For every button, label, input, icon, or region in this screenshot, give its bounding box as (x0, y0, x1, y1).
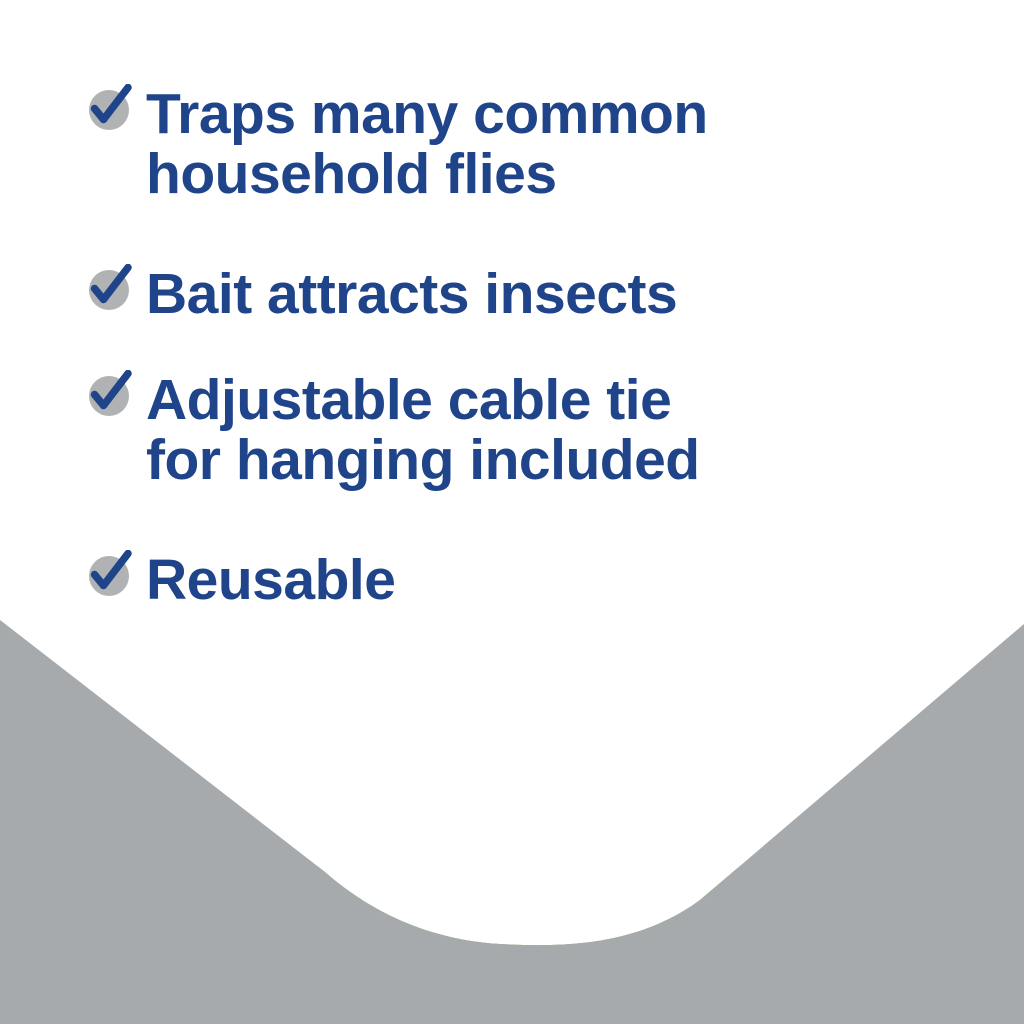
feature-label: Traps many common household flies (146, 84, 708, 204)
feature-item-4: Reusable (86, 550, 395, 610)
product-feature-panel: Traps many common household flies Bait a… (0, 0, 1024, 1024)
feature-label: Reusable (146, 550, 395, 610)
cloud-shape (240, 700, 500, 780)
green-bottle-fly-icon (368, 626, 668, 876)
feature-label: Bait attracts insects (146, 264, 677, 324)
check-circle-icon (86, 550, 132, 596)
feature-item-1: Traps many common household flies (86, 84, 708, 204)
check-circle-icon (86, 84, 132, 130)
feature-list: Traps many common household flies Bait a… (0, 0, 1024, 660)
feature-label: Adjustable cable tie for hanging include… (146, 370, 700, 490)
check-circle-icon (86, 264, 132, 310)
feature-item-3: Adjustable cable tie for hanging include… (86, 370, 700, 490)
cloud-shape (380, 790, 680, 860)
feature-item-2: Bait attracts insects (86, 264, 677, 324)
check-circle-icon (86, 370, 132, 416)
